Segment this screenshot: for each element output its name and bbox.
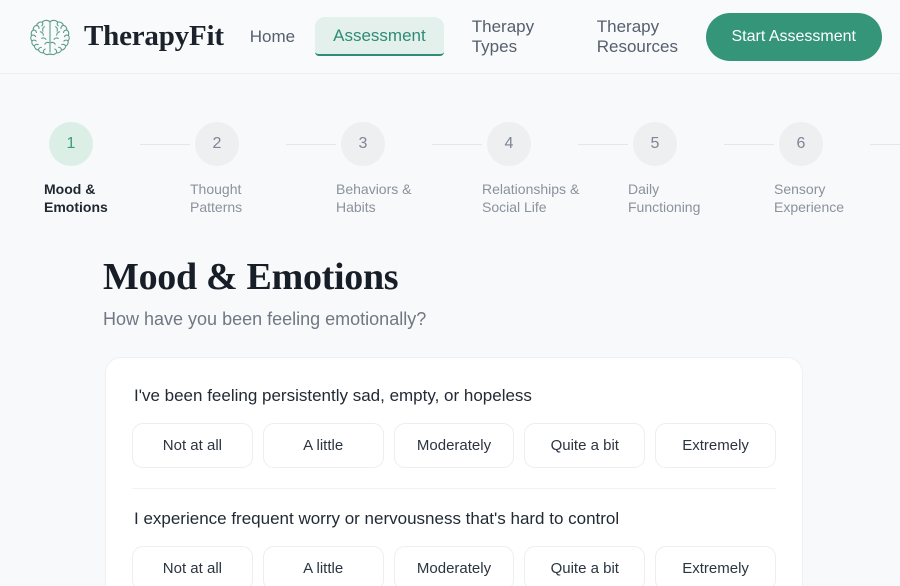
nav-item-therapy-types[interactable]: Therapy Types (460, 9, 555, 64)
answer-options-1: Not at all A little Moderately Quite a b… (132, 423, 776, 468)
question-text-2: I experience frequent worry or nervousne… (132, 509, 776, 529)
page-title: Mood & Emotions (103, 255, 900, 299)
option-q1-a-little[interactable]: A little (263, 423, 384, 468)
stepper-step-6[interactable]: 6 Sensory Experience (774, 122, 870, 217)
option-q1-moderately[interactable]: Moderately (394, 423, 515, 468)
step-number-2[interactable]: 2 (195, 122, 239, 166)
question-item-2: I experience frequent worry or nervousne… (132, 488, 776, 586)
question-text-1: I've been feeling persistently sad, empt… (132, 386, 776, 406)
brain-icon (28, 15, 72, 59)
brand-name: TherapyFit (84, 20, 224, 53)
step-connector-2-3 (286, 144, 336, 145)
page-subtitle: How have you been feeling emotionally? (103, 309, 900, 330)
answer-options-2: Not at all A little Moderately Quite a b… (132, 546, 776, 586)
step-number-6[interactable]: 6 (779, 122, 823, 166)
step-connector-3-4 (432, 144, 482, 145)
step-label-5: Daily Functioning (628, 180, 728, 217)
question-item-1: I've been feeling persistently sad, empt… (132, 386, 776, 468)
option-q1-quite-a-bit[interactable]: Quite a bit (524, 423, 645, 468)
step-connector-4-5 (578, 144, 628, 145)
option-q2-a-little[interactable]: A little (263, 546, 384, 586)
option-q2-not-at-all[interactable]: Not at all (132, 546, 253, 586)
step-label-3: Behaviors & Habits (336, 180, 436, 217)
step-connector-6-7 (870, 144, 900, 145)
option-q2-moderately[interactable]: Moderately (394, 546, 515, 586)
stepper-step-4[interactable]: 4 Relationships & Social Life (482, 122, 578, 217)
start-assessment-button[interactable]: Start Assessment (706, 13, 883, 61)
step-connector-1-2 (140, 144, 190, 145)
option-q1-not-at-all[interactable]: Not at all (132, 423, 253, 468)
step-label-4: Relationships & Social Life (482, 180, 582, 217)
stepper-step-1[interactable]: 1 Mood & Emotions (44, 122, 140, 217)
step-number-4[interactable]: 4 (487, 122, 531, 166)
question-card: I've been feeling persistently sad, empt… (105, 357, 803, 586)
nav-item-assessment[interactable]: Assessment (315, 17, 444, 57)
main-nav: Home Assessment Therapy Types Therapy Re… (238, 9, 706, 64)
assessment-stepper: 1 Mood & Emotions 2 Thought Patterns 3 B… (0, 74, 900, 217)
option-q1-extremely[interactable]: Extremely (655, 423, 776, 468)
option-q2-extremely[interactable]: Extremely (655, 546, 776, 586)
nav-item-therapy-resources[interactable]: Therapy Resources (585, 9, 680, 64)
brand[interactable]: TherapyFit (28, 15, 224, 59)
step-number-1[interactable]: 1 (49, 122, 93, 166)
step-label-2: Thought Patterns (190, 180, 290, 217)
step-connector-5-6 (724, 144, 774, 145)
nav-item-home[interactable]: Home (238, 19, 307, 55)
stepper-step-2[interactable]: 2 Thought Patterns (190, 122, 286, 217)
step-number-3[interactable]: 3 (341, 122, 385, 166)
section-header: Mood & Emotions How have you been feelin… (0, 217, 900, 330)
step-number-5[interactable]: 5 (633, 122, 677, 166)
stepper-step-5[interactable]: 5 Daily Functioning (628, 122, 724, 217)
step-label-6: Sensory Experience (774, 180, 874, 217)
site-header: TherapyFit Home Assessment Therapy Types… (0, 0, 900, 74)
step-label-1: Mood & Emotions (44, 180, 144, 217)
stepper-step-3[interactable]: 3 Behaviors & Habits (336, 122, 432, 217)
option-q2-quite-a-bit[interactable]: Quite a bit (524, 546, 645, 586)
